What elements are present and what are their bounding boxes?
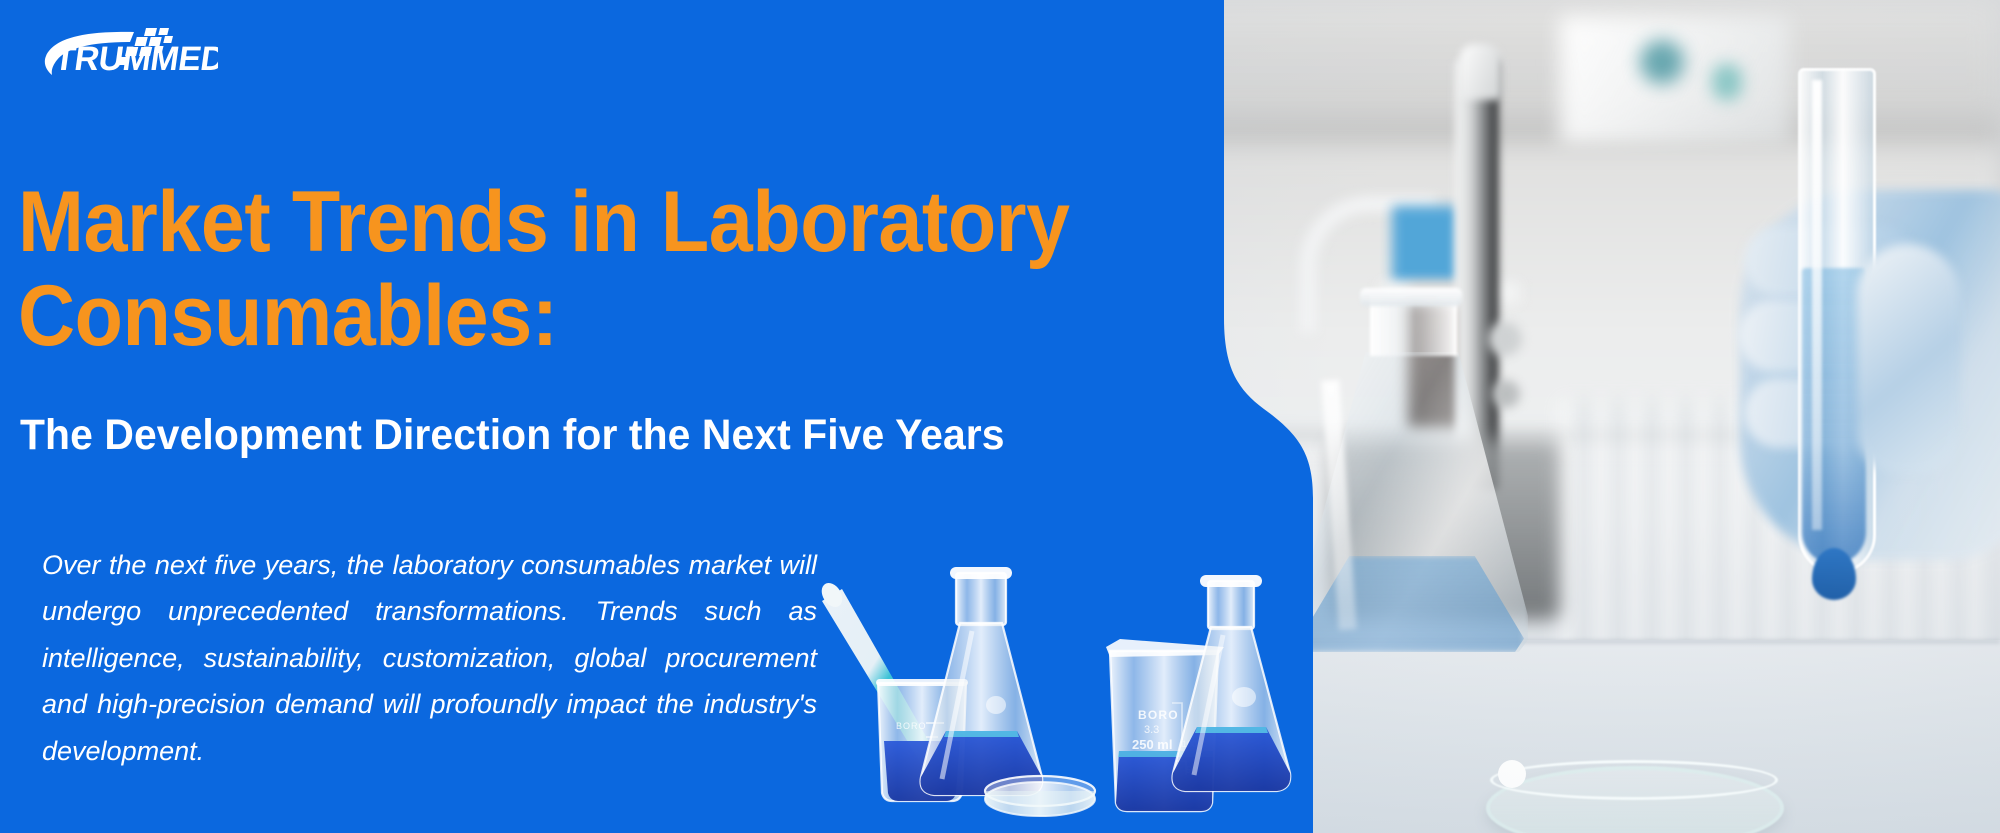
page-subtitle: The Development Direction for the Next F… <box>20 411 1246 459</box>
boro-beaker-label-line3: 250 ml <box>1132 737 1172 752</box>
page-title: Market Trends in Laboratory Consumables: <box>18 176 1150 363</box>
boro-beaker-label-line1: BORO <box>1138 708 1179 722</box>
small-beaker-label: BORO <box>896 721 927 731</box>
petri-dish <box>985 776 1095 816</box>
glassware-group: BORO <box>820 565 1320 833</box>
trummed-logo[interactable]: TRUMMED <box>38 20 218 76</box>
hero-banner: TRUMMED Market Trends in Laboratory Cons… <box>0 0 2000 833</box>
boro-beaker-label-line2: 3.3 <box>1144 724 1159 736</box>
intro-paragraph: Over the next five years, the laboratory… <box>42 542 817 774</box>
trummed-wordmark: TRUMMED <box>52 40 218 76</box>
